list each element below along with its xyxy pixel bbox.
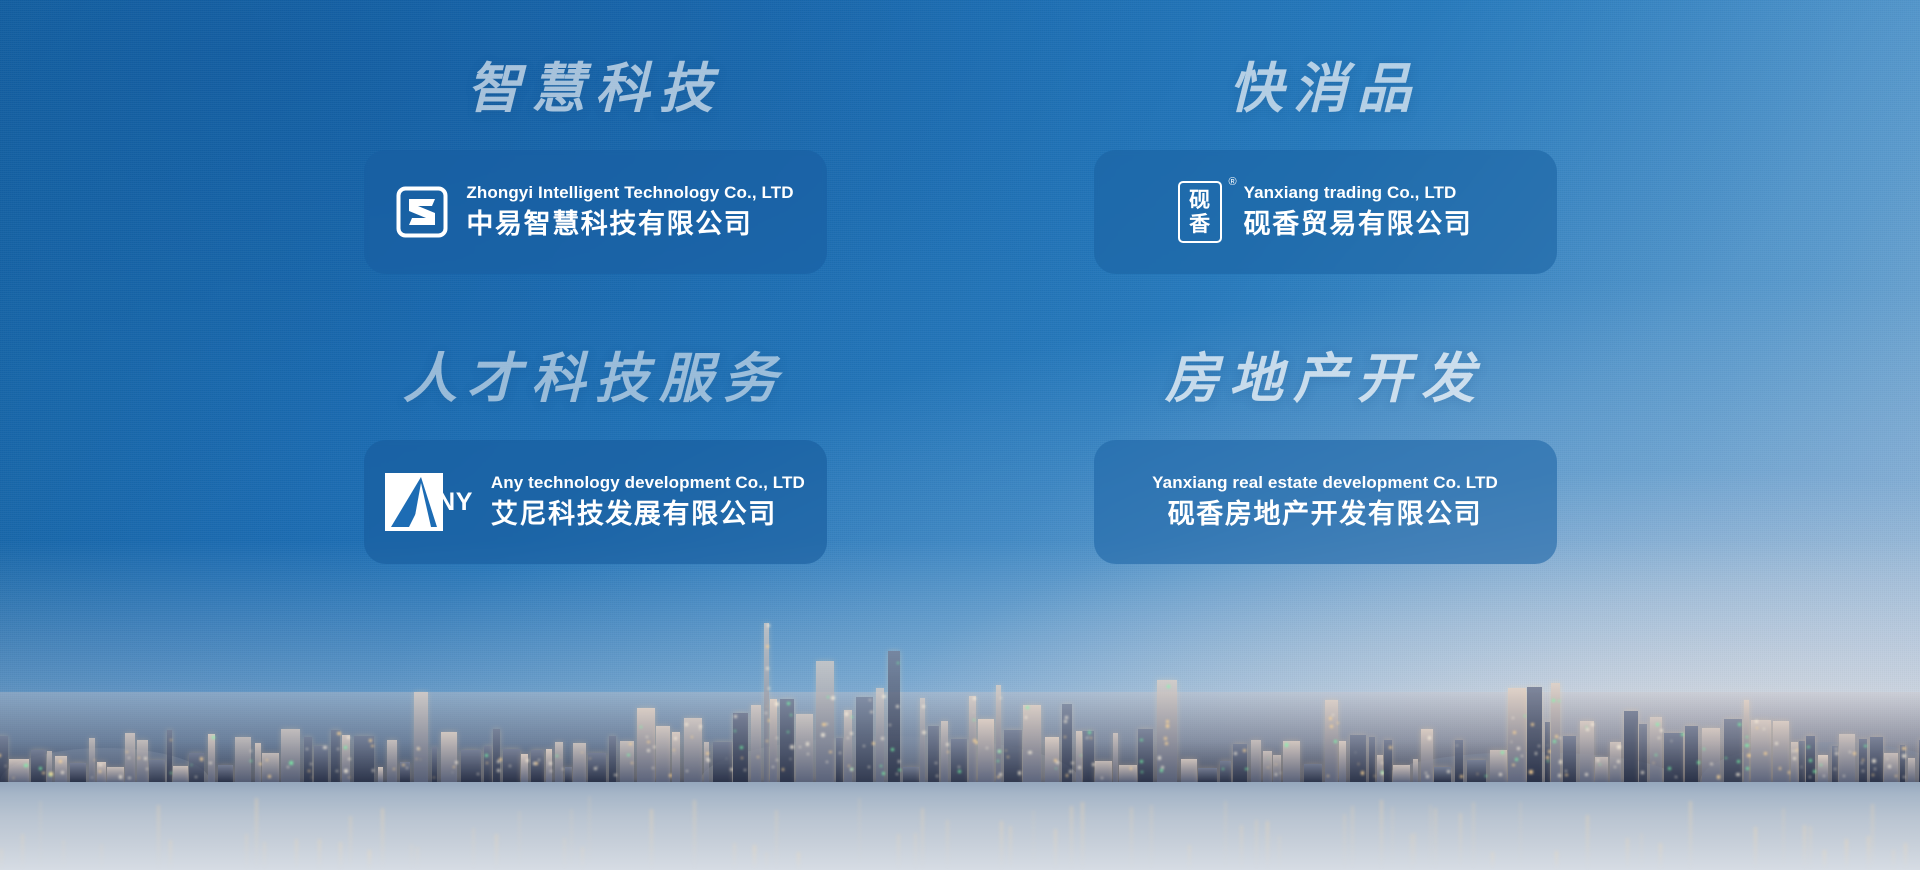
company-name-block: Zhongyi Intelligent Technology Co., LTD … [466,182,793,241]
segment-heading: 人才科技服务 [230,352,960,406]
segment-smart-technology: 智慧科技 Zhongyi Intelligent Technology Co.,… [230,62,960,352]
segment-fmcg: 快消品 砚 香 ® Yanxiang trading Co., LTD 砚香贸易… [960,62,1690,352]
company-name-cn: 砚香贸易有限公司 [1244,207,1473,242]
segments-grid: 智慧科技 Zhongyi Intelligent Technology Co.,… [0,0,1920,870]
company-card-yanxiang-trading[interactable]: 砚 香 ® Yanxiang trading Co., LTD 砚香贸易有限公司 [1094,150,1557,274]
segment-heading: 房地产开发 [960,352,1690,406]
company-name-en: Yanxiang trading Co., LTD [1244,182,1473,203]
registered-trademark-icon: ® [1228,177,1236,188]
segment-real-estate-development: 房地产开发 Yanxiang real estate development C… [960,352,1690,642]
segment-heading: 快消品 [960,62,1690,116]
company-card-yanxiang-real-estate[interactable]: Yanxiang real estate development Co. LTD… [1094,440,1557,564]
company-name-en: Yanxiang real estate development Co. LTD [1152,472,1498,493]
seal-char-bottom: 香 [1189,214,1210,234]
company-name-block: Yanxiang trading Co., LTD 砚香贸易有限公司 [1244,182,1473,241]
company-name-block: Any technology development Co., LTD 艾尼科技… [491,472,805,531]
company-name-en: Any technology development Co., LTD [491,472,805,493]
company-name-block: Yanxiang real estate development Co. LTD… [1152,472,1498,531]
seal-frame: 砚 香 [1178,181,1222,243]
company-name-cn: 艾尼科技发展有限公司 [491,497,805,532]
banner-stage: 智慧科技 Zhongyi Intelligent Technology Co.,… [0,0,1920,870]
yanxiang-seal-icon: 砚 香 ® [1178,181,1226,243]
segment-talent-tech-services: 人才科技服务 NY Any technology development Co.… [230,352,960,642]
company-name-en: Zhongyi Intelligent Technology Co., LTD [466,182,793,203]
any-mountain-icon: NY [385,473,473,531]
company-name-cn: 砚香房地产开发有限公司 [1168,497,1483,532]
company-card-any[interactable]: NY Any technology development Co., LTD 艾… [364,440,827,564]
seal-char-top: 砚 [1189,190,1210,210]
zhongyi-z-mark-icon [396,186,448,238]
company-name-cn: 中易智慧科技有限公司 [466,207,793,242]
company-card-zhongyi[interactable]: Zhongyi Intelligent Technology Co., LTD … [364,150,827,274]
segment-heading: 智慧科技 [230,62,960,116]
